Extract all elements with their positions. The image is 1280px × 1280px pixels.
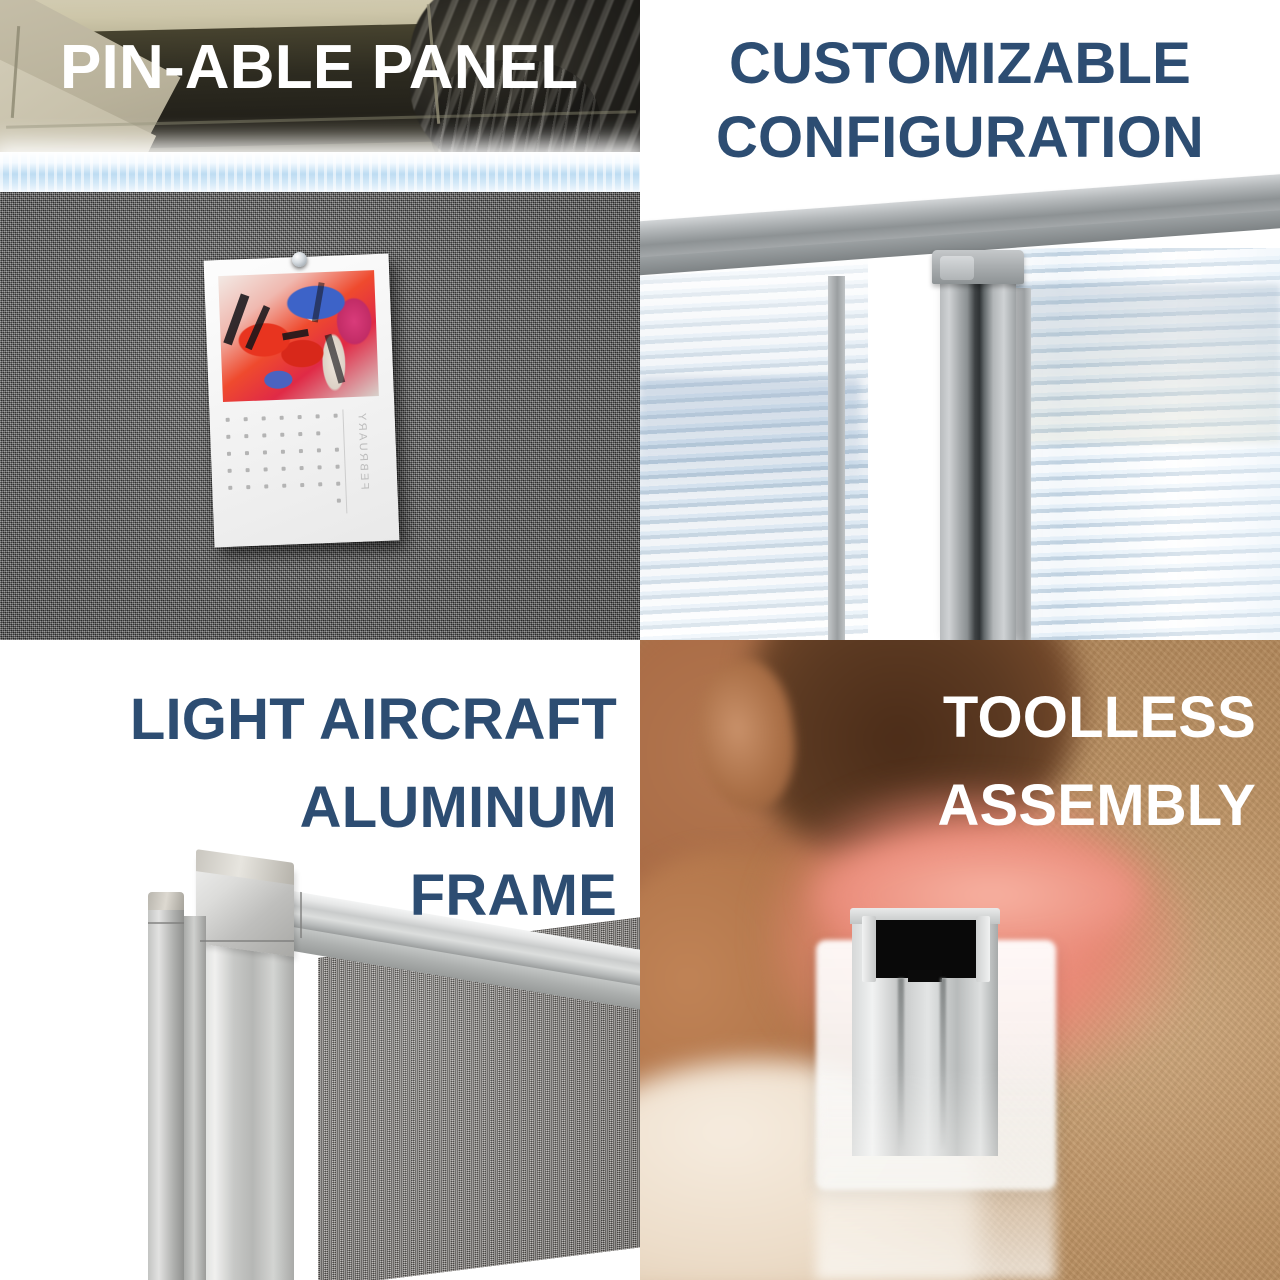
extrusion-lip-left: [862, 916, 876, 982]
calendar-day-grid: [226, 414, 341, 510]
calendar-artwork: [218, 270, 379, 402]
panel-pin-able-panel: FEBRUARY PIN-ABLE PANEL: [0, 0, 640, 640]
caption-customizable: CUSTOMIZABLE: [640, 36, 1280, 92]
frame-corner-post: [200, 928, 294, 1280]
caption-configuration: CONFIGURATION: [640, 110, 1280, 166]
pinned-calendar: FEBRUARY: [204, 254, 400, 548]
caption-light-aircraft: LIGHT AIRCRAFT: [20, 692, 617, 748]
frame-slim-post-inner: [184, 916, 206, 1280]
frame-seam-horizontal: [200, 940, 294, 942]
extrusion-lip-right: [976, 916, 990, 982]
caption-frame: FRAME: [20, 868, 617, 924]
caption-pin-able-panel: PIN-ABLE PANEL: [60, 38, 578, 98]
frame-connector-post: [940, 272, 1016, 640]
frame-stile-left: [828, 276, 845, 640]
caption-aluminum: ALUMINUM: [20, 780, 617, 836]
push-pin-icon: [292, 252, 307, 267]
panel-toolless-assembly: TOOLLESS ASSEMBLY: [640, 640, 1280, 1280]
caption-toolless: TOOLLESS: [660, 690, 1256, 746]
caption-assembly: ASSEMBLY: [660, 778, 1256, 834]
frame-post-cap-inner: [940, 256, 974, 280]
frame-slim-post-outer: [148, 904, 184, 1280]
panel-customizable-configuration: CUSTOMIZABLE CONFIGURATION: [640, 0, 1280, 640]
calendar-grid-area: FEBRUARY: [223, 406, 383, 530]
outdoor-scene-left: [640, 378, 860, 498]
panel-aluminum-frame: LIGHT AIRCRAFT ALUMINUM FRAME: [0, 640, 640, 1280]
extrusion-slot-notch: [908, 970, 942, 982]
calendar-divider: [342, 409, 347, 513]
foreground-blur: [816, 1070, 1056, 1280]
calendar-month-label: FEBRUARY: [355, 410, 370, 489]
frame-stile-right: [1016, 288, 1031, 640]
feature-collage: FEBRUARY PIN-ABLE PANEL CUSTOMIZABLE CON…: [0, 0, 1280, 1280]
